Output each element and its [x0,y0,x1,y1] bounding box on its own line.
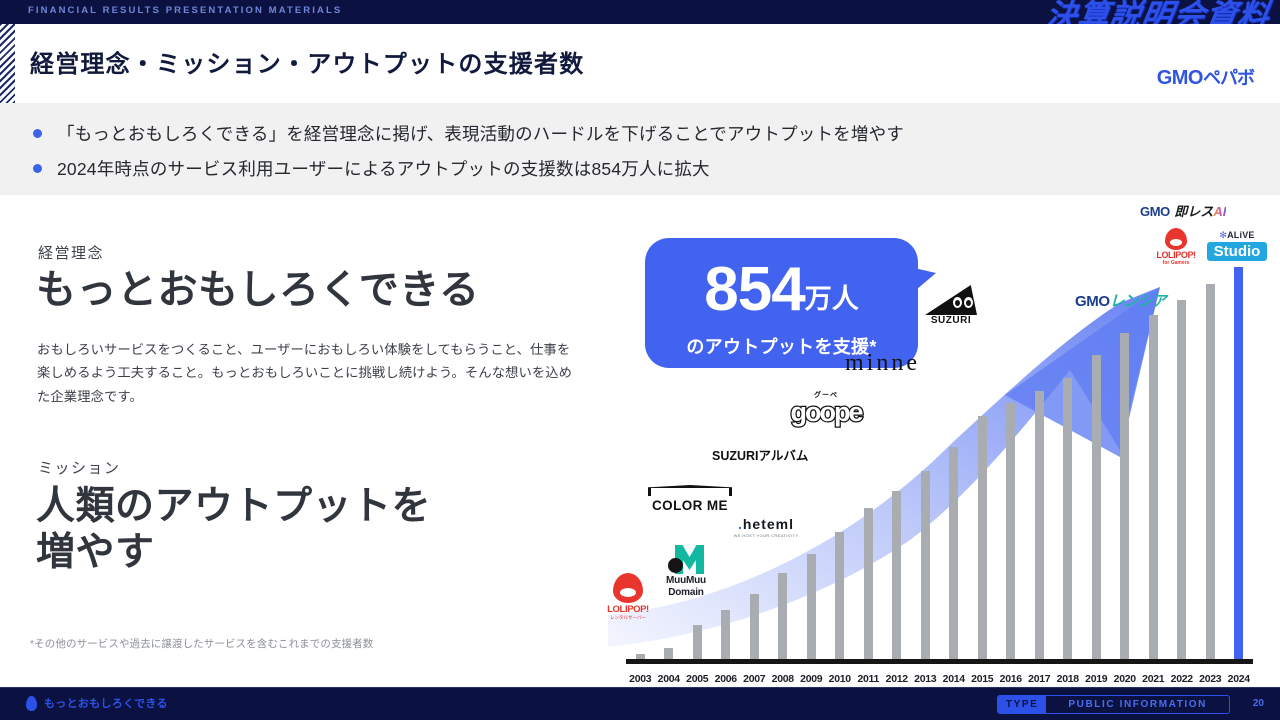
lolipop-gamers-label: LOLIPOP! [1145,250,1207,260]
bar-2004 [664,648,673,659]
logo-suzuri-album: SUZURIアルバム [712,445,808,464]
x-label-2023: 2023 [1196,673,1225,685]
bar-cell [1225,259,1254,659]
bar-2013 [921,471,930,659]
bar-2009 [807,554,816,659]
alive-studio-label: Studio [1207,242,1268,261]
bar-2011 [864,508,873,659]
logo-gmo-rensha: GMOレンシア [1075,290,1166,311]
bar-cell [826,259,855,659]
suzuri-mark-icon [925,285,977,315]
bullet-dot-icon [33,129,42,138]
colorme-roof-icon [648,485,732,496]
goope-label: goope [785,400,867,426]
bar-2012 [892,491,901,659]
footer-tagline-group: もっとおもしろくできる [26,695,168,711]
logo-lolipop-for-gamers: LOLIPOP! for Gamers [1145,228,1207,266]
lolipop-label: LOLIPOP! [602,604,654,615]
logo-muumuu-domain: MuuMuu Domain [655,545,717,598]
x-label-2007: 2007 [740,673,769,685]
bar-2010 [835,532,844,659]
sokures-ai-label: AI [1213,204,1226,219]
lolipop-drop-icon [613,573,643,603]
title-band: 経営理念・ミッション・アウトプットの支援者数 GMOペパボ [0,24,1280,104]
footer-tagline: もっとおもしろくできる [44,695,168,711]
muumuu-label-line2: Domain [655,587,717,599]
droplet-icon [26,696,37,711]
heteml-label: .heteml [722,516,810,532]
brand-logo-gmo: GMO [1157,67,1203,89]
bullet-dot-icon [33,164,42,173]
bar-cell [683,259,712,659]
bar-cell [1054,259,1083,659]
logo-minne: minne [845,350,920,377]
bar-2017 [1035,391,1044,659]
chart-area: 854万人 のアウトプットを支援* 2003200420052006200720… [600,195,1280,690]
bar-2007 [750,594,759,659]
x-label-2009: 2009 [797,673,826,685]
bar-cell [1082,259,1111,659]
x-label-2021: 2021 [1139,673,1168,685]
bar-2018 [1063,378,1072,659]
bullet-item: 2024年時点のサービス利用ユーザーによるアウトプットの支援数は854万人に拡大 [33,156,710,181]
x-label-2003: 2003 [626,673,655,685]
bullet-text: 2024年時点のサービス利用ユーザーによるアウトプットの支援数は854万人に拡大 [57,156,710,181]
x-axis-labels: 2003200420052006200720082009201020112012… [626,673,1253,685]
x-label-2014: 2014 [940,673,969,685]
bullet-item: 「もっとおもしろくできる」を経営理念に掲げ、表現活動のハードルを下げることでアウ… [33,121,904,146]
badge-type-label: TYPE [998,696,1047,713]
colorme-label: COLOR ME [645,498,735,513]
muumuu-mark-icon [668,545,704,575]
mission-value: 人類のアウトプットを増やす [36,484,466,576]
eyebrow-label: FINANCIAL RESULTS PRESENTATION MATERIALS [28,5,342,16]
lolipop-sublabel: レンタルサーバー [602,615,654,621]
footnote-text: *その他のサービスや過去に譲渡したサービスを含むこれまでの支援者数 [30,636,373,651]
bar-2008 [778,573,787,659]
suzuri-album-label: SUZURIアルバム [712,445,808,464]
page-title: 経営理念・ミッション・アウトプットの支援者数 [30,44,584,79]
lolipop-gamers-drop-icon [1165,228,1187,250]
muumuu-label-line1: MuuMuu [655,575,717,587]
bar-2014 [949,447,958,659]
x-label-2004: 2004 [655,673,684,685]
rensha-gmo-label: GMO [1075,293,1110,310]
minne-label: minne [845,350,920,377]
status-badge: TYPE PUBLIC INFORMATION [997,695,1230,714]
logo-alive-studio: ✻ALiVE Studio [1200,230,1274,261]
heteml-word: heteml [743,516,794,532]
bar-cell [1111,259,1140,659]
philosophy-description: おもしろいサービスをつくること、ユーザーにおもしろい体験をしてもらうこと、仕事を… [37,338,577,408]
heteml-sublabel: WE HOST YOUR CREATIVITY [722,533,810,538]
bar-2005 [693,625,702,659]
left-content-column: 経営理念 もっとおもしろくできる おもしろいサービスをつくること、ユーザーにおも… [0,195,600,685]
bar-cell [1139,259,1168,659]
bar-cell [997,259,1026,659]
x-label-2012: 2012 [883,673,912,685]
bar-2024 [1234,267,1243,659]
badge-type-value: PUBLIC INFORMATION [1046,696,1229,713]
philosophy-label: 経営理念 [38,242,104,263]
bar-2019 [1092,355,1101,659]
x-label-2016: 2016 [997,673,1026,685]
x-axis-line [626,659,1253,664]
bar-cell [854,259,883,659]
x-label-2006: 2006 [712,673,741,685]
mission-label: ミッション [38,457,121,478]
logo-suzuri: SUZURI [920,285,982,326]
x-label-2015: 2015 [968,673,997,685]
lolipop-gamers-sublabel: for Gamers [1145,260,1207,266]
bar-cell [883,259,912,659]
logo-gmo-sokures-ai: GMO 即レスAI [1140,201,1226,221]
bar-cell [1025,259,1054,659]
slide: FINANCIAL RESULTS PRESENTATION MATERIALS… [0,0,1280,720]
alive-label: ✻ALiVE [1200,230,1274,241]
x-label-2018: 2018 [1054,673,1083,685]
stripe-accent-decoration [0,24,15,103]
brand-logo: GMOペパボ [1157,64,1254,90]
suzuri-label: SUZURI [920,315,982,326]
bar-2015 [978,416,987,659]
x-label-2019: 2019 [1082,673,1111,685]
x-label-2011: 2011 [854,673,883,685]
philosophy-value: もっとおもしろくできる [36,267,480,314]
logo-colorme: COLOR ME [645,485,735,513]
bar-2016 [1006,403,1015,659]
slide-footer: もっとおもしろくできる TYPE PUBLIC INFORMATION 20 [0,687,1280,720]
bar-2020 [1120,333,1129,659]
x-label-2013: 2013 [911,673,940,685]
x-label-2005: 2005 [683,673,712,685]
bullet-text: 「もっとおもしろくできる」を経営理念に掲げ、表現活動のハードルを下げることでアウ… [57,121,904,146]
x-label-2022: 2022 [1168,673,1197,685]
sokures-jp-label: 即レス [1174,204,1213,219]
alive-star-icon: ✻ [1219,230,1227,240]
bar-cell [1168,259,1197,659]
logo-heteml: .heteml WE HOST YOUR CREATIVITY [722,516,810,538]
page-number: 20 [1253,698,1264,709]
brand-logo-pepabo: ペパボ [1203,68,1254,88]
bar-2022 [1177,300,1186,659]
bar-2023 [1206,284,1215,659]
bar-2006 [721,610,730,659]
rensha-jp-label: レンシア [1110,293,1166,310]
bar-2021 [1149,315,1158,659]
bar-cell [655,259,684,659]
logo-lolipop: LOLIPOP! レンタルサーバー [602,573,654,621]
bar-cell [1196,259,1225,659]
summary-bullets: 「もっとおもしろくできる」を経営理念に掲げ、表現活動のハードルを下げることでアウ… [0,103,1280,195]
x-label-2020: 2020 [1111,673,1140,685]
x-label-2017: 2017 [1025,673,1054,685]
x-label-2024: 2024 [1225,673,1254,685]
x-label-2010: 2010 [826,673,855,685]
sokures-gmo-label: GMO [1140,204,1170,219]
x-label-2008: 2008 [769,673,798,685]
logo-goope: グーペ goope [785,390,867,426]
